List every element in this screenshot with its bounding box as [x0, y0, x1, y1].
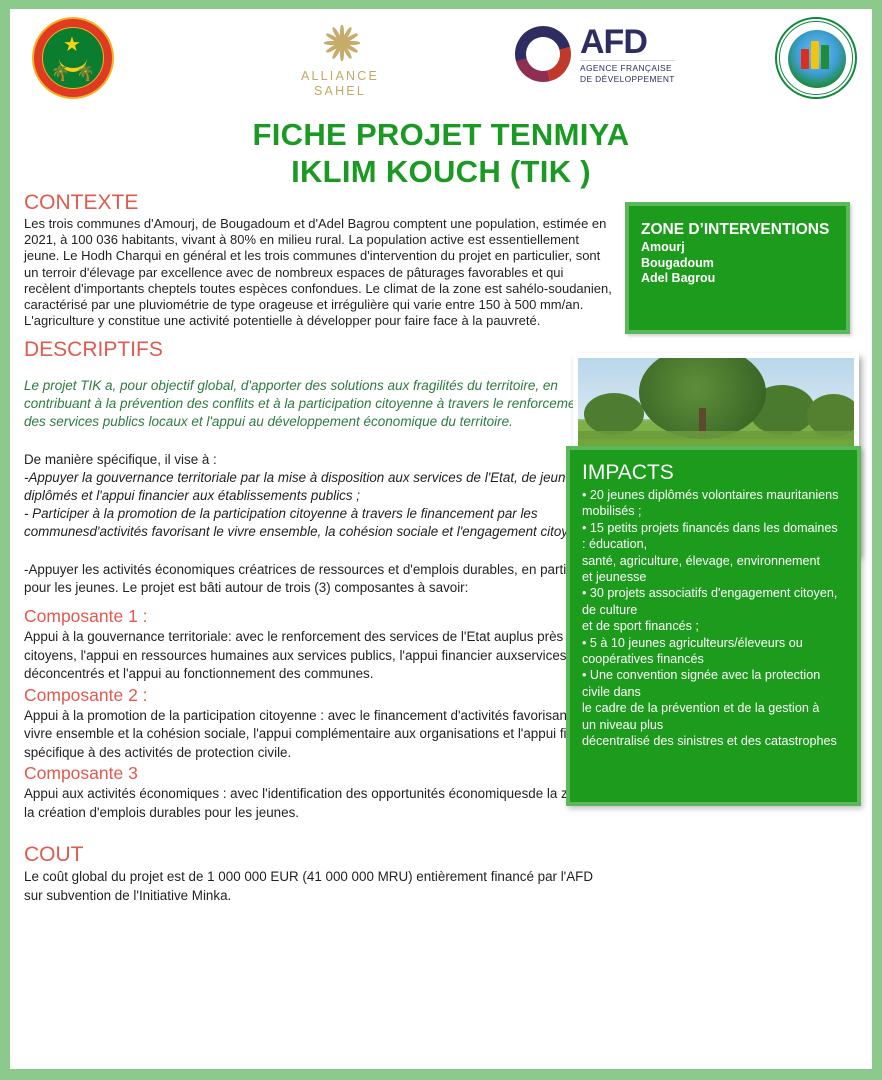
- afd-name: AFD: [580, 25, 675, 59]
- cout-heading: COUT: [24, 842, 612, 867]
- afd-logo: AFD AGENCE FRANÇAISE DE DÉVELOPPEMENT: [515, 23, 675, 84]
- impacts-line: coopératives financés: [582, 651, 845, 667]
- descriptifs-specific-3: -Appuyer les activités économiques créat…: [24, 561, 612, 597]
- zone-item-amourj: Amourj: [641, 240, 834, 256]
- palm-icon-left: 🌴: [51, 64, 70, 82]
- descriptifs-heading: DESCRIPTIFS: [24, 337, 612, 362]
- zone-interventions-title: ZONE D’INTERVENTIONS: [641, 220, 834, 239]
- impacts-line: le cadre de la prévention et de la gesti…: [582, 700, 845, 716]
- impacts-line: • 5 à 10 jeunes agriculteurs/éleveurs ou: [582, 635, 845, 651]
- composante-1-heading: Composante 1 :: [24, 605, 612, 627]
- impacts-box: IMPACTS • 20 jeunes diplômés volontaires…: [566, 446, 861, 806]
- impacts-line: et jeunesse: [582, 569, 845, 585]
- composante-3-body: Appui aux activités économiques : avec l…: [24, 785, 612, 822]
- afd-wordmark: AFD AGENCE FRANÇAISE DE DÉVELOPPEMENT: [580, 23, 675, 84]
- zone-interventions-box: ZONE D’INTERVENTIONS Amourj Bougadoum Ad…: [625, 202, 850, 334]
- page-title-line1: FICHE PROJET TENMIYA: [10, 116, 872, 153]
- ministry-logo-icon: [775, 17, 857, 99]
- impacts-line: et de sport financés ;: [582, 618, 845, 634]
- page-title: FICHE PROJET TENMIYA IKLIM KOUCH (TIK ): [10, 116, 872, 190]
- afd-subtitle-line2: DE DÉVELOPPEMENT: [580, 74, 675, 85]
- contexte-body: Les trois communes d'Amourj, de Bougadou…: [24, 216, 612, 329]
- afd-subtitle: AGENCE FRANÇAISE DE DÉVELOPPEMENT: [580, 60, 675, 84]
- alliance-sahel-line2: SAHEL: [285, 84, 395, 99]
- mauritania-emblem-icon: 🌴 🌴: [32, 17, 114, 99]
- impacts-line: civile dans: [582, 684, 845, 700]
- descriptifs-specific-2: - Participer à la promotion de la partic…: [24, 505, 612, 541]
- impacts-line: santé, agriculture, élevage, environneme…: [582, 553, 845, 569]
- left-column: CONTEXTE Les trois communes d'Amourj, de…: [24, 190, 612, 905]
- mauritania-emblem-inner: 🌴 🌴: [42, 27, 104, 89]
- page-title-line2: IKLIM KOUCH (TIK ): [10, 153, 872, 190]
- cout-body: Le coût global du projet est de 1 000 00…: [24, 868, 612, 905]
- afd-subtitle-line1: AGENCE FRANÇAISE: [580, 63, 675, 74]
- ministry-outer-ring: [779, 21, 853, 95]
- impacts-line: • 20 jeunes diplômés volontaires maurita…: [582, 487, 845, 503]
- impacts-line: un niveau plus: [582, 717, 845, 733]
- descriptifs-specific-intro: De manière spécifique, il vise à :: [24, 451, 612, 469]
- impacts-line: mobilisés ;: [582, 503, 845, 519]
- alliance-sahel-logo: ALLIANCE SAHEL: [285, 23, 395, 99]
- project-fact-sheet: 🌴 🌴 ALLIANCE SAHEL: [10, 9, 872, 1069]
- impacts-title: IMPACTS: [582, 460, 845, 486]
- alliance-sahel-line1: ALLIANCE: [285, 69, 395, 84]
- impacts-line: de culture: [582, 602, 845, 618]
- zone-interventions-inner: ZONE D’INTERVENTIONS Amourj Bougadoum Ad…: [629, 206, 846, 330]
- afd-ring-icon: [505, 15, 581, 91]
- zone-item-bougadoum: Bougadoum: [641, 256, 834, 272]
- impacts-line: décentralisé des sinistres et des catast…: [582, 733, 845, 749]
- descriptifs-objective: Le projet TIK a, pour objectif global, d…: [24, 377, 612, 431]
- impacts-line: • Une convention signée avec la protecti…: [582, 667, 845, 683]
- palm-icon-right: 🌴: [76, 64, 95, 82]
- composante-2-heading: Composante 2 :: [24, 684, 612, 706]
- zone-item-adel-bagrou: Adel Bagrou: [641, 271, 834, 287]
- composante-3-heading: Composante 3: [24, 762, 612, 784]
- impacts-inner: IMPACTS • 20 jeunes diplômés volontaires…: [570, 450, 857, 802]
- sun-burst-icon: [320, 23, 360, 63]
- descriptifs-specific-1: -Appuyer la gouvernance territoriale par…: [24, 469, 612, 505]
- contexte-heading: CONTEXTE: [24, 190, 612, 215]
- photo-tree-left: [584, 393, 645, 435]
- composante-2-body: Appui à la promotion de la participation…: [24, 707, 612, 763]
- impacts-line: • 15 petits projets financés dans les do…: [582, 520, 845, 536]
- impacts-line: • 30 projets associatifs d'engagement ci…: [582, 585, 845, 601]
- composante-1-body: Appui à la gouvernance territoriale: ave…: [24, 628, 612, 684]
- logo-bar: 🌴 🌴 ALLIANCE SAHEL: [10, 9, 872, 112]
- impacts-line: : éducation,: [582, 536, 845, 552]
